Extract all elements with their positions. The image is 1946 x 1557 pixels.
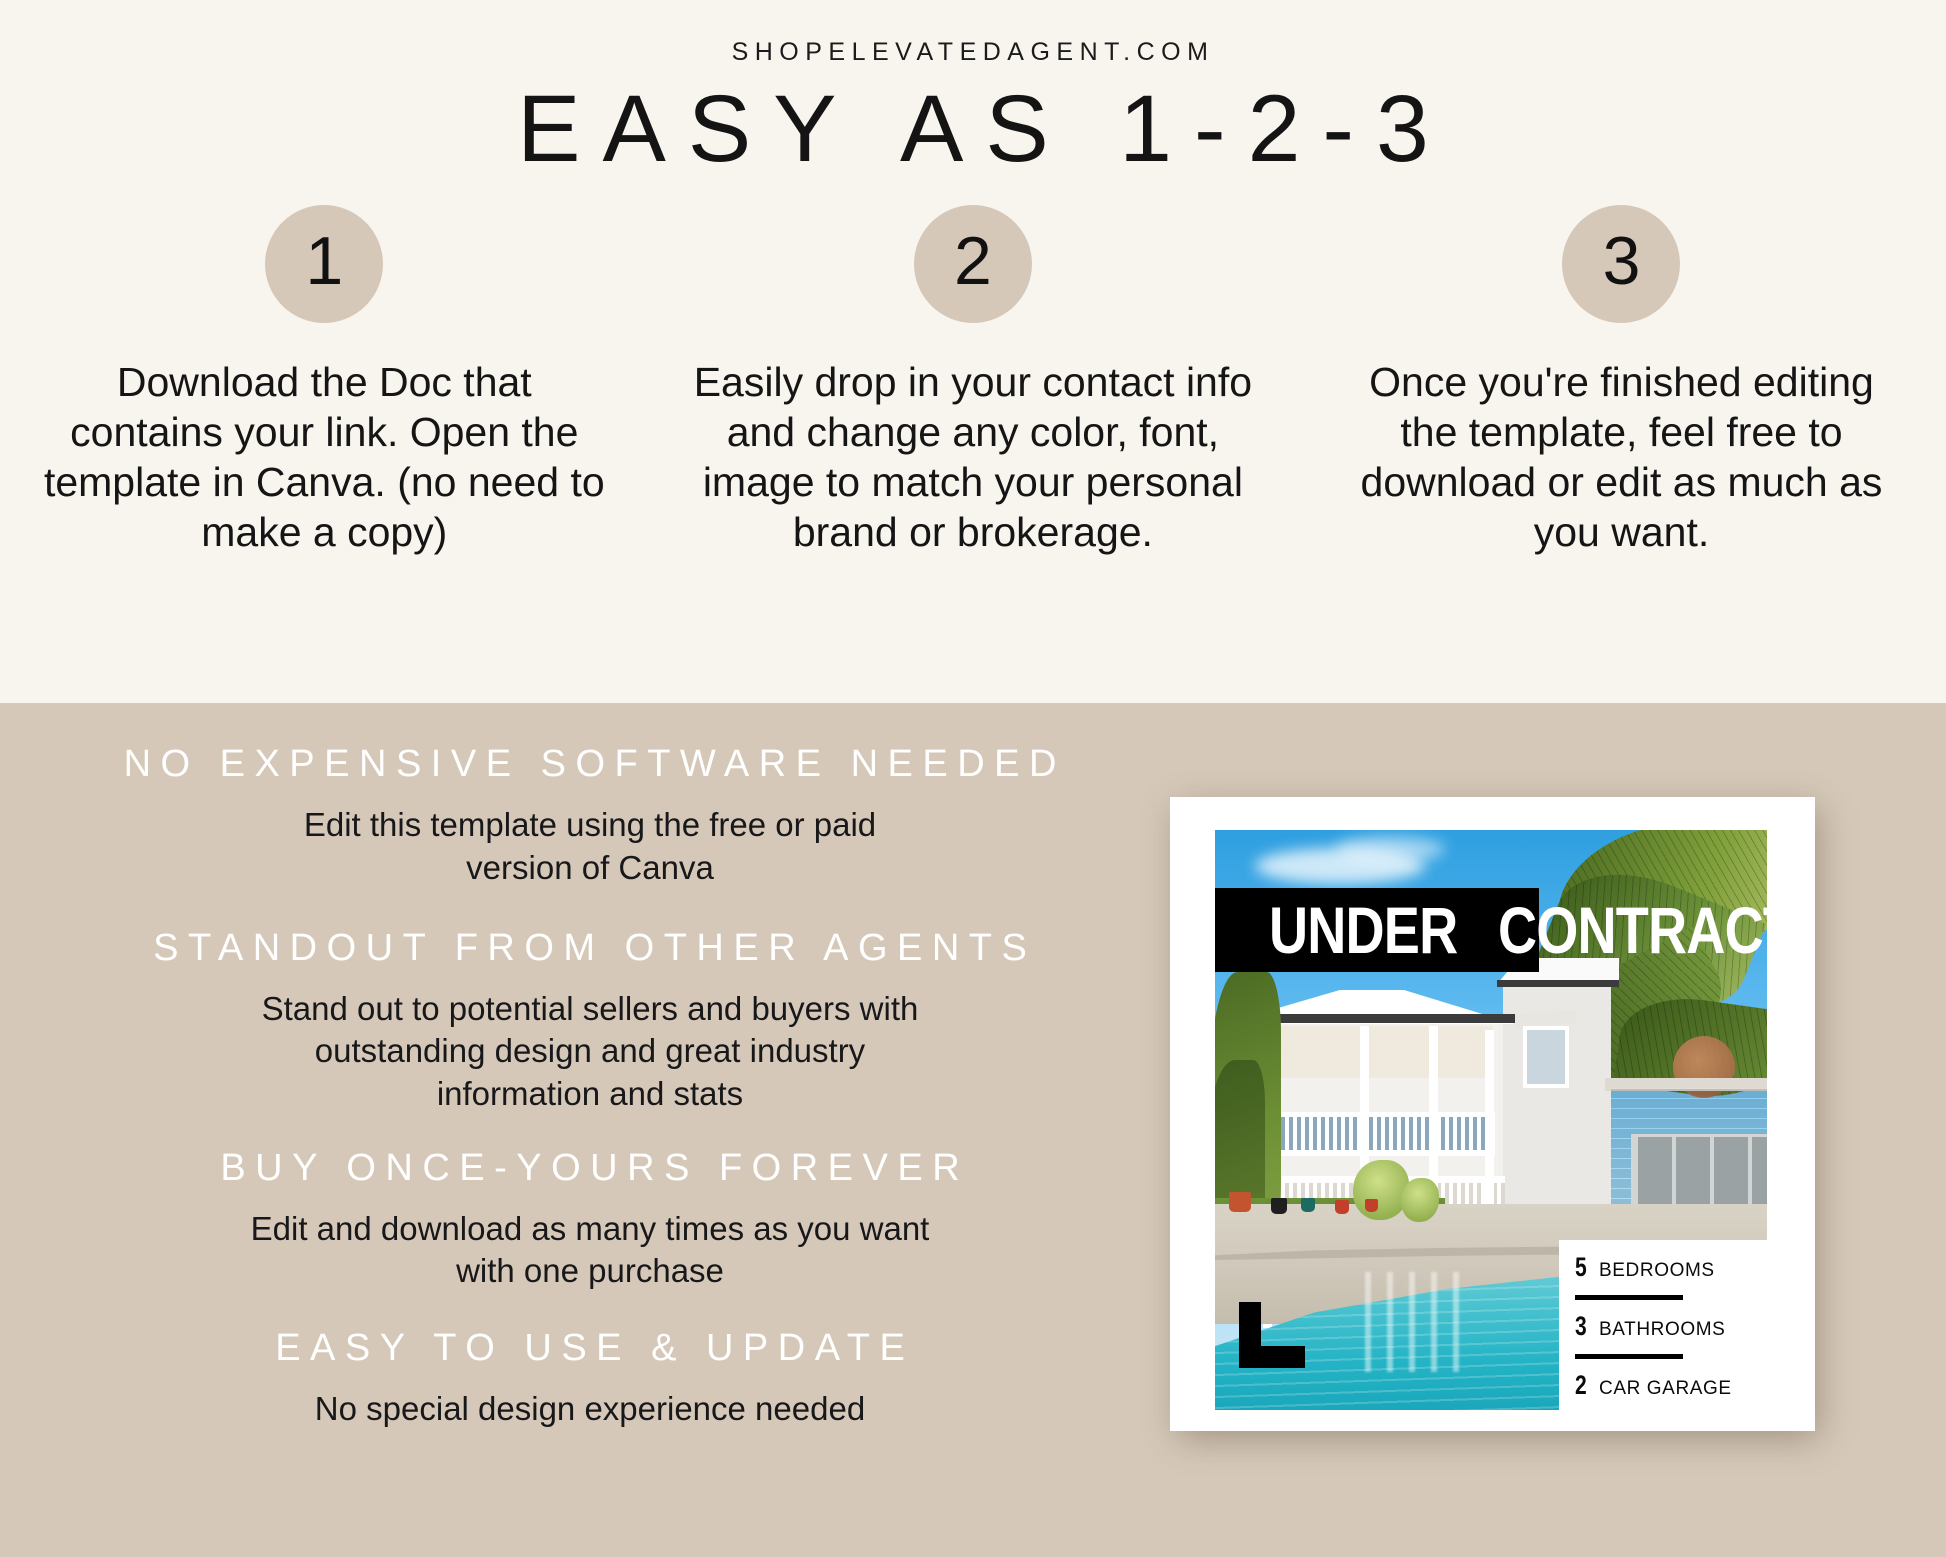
feature-4-title: EASY TO USE & UPDATE (0, 1323, 1180, 1374)
feature-no-expensive-software: NO EXPENSIVE SOFTWARE NEEDED Edit this t… (0, 739, 1180, 889)
plant-pot (1301, 1198, 1315, 1212)
stat-divider (1575, 1295, 1683, 1300)
stat-car-garage: 2 CAR GARAGE (1575, 1372, 1757, 1400)
step-3-text: Once you're finished editing the templat… (1341, 357, 1901, 557)
steps-row: 1 Download the Doc that contains your li… (0, 205, 1946, 557)
feature-3-body: Edit and download as many times as you w… (0, 1208, 1180, 1292)
stat-divider (1575, 1354, 1683, 1359)
stat-car-garage-label: CAR GARAGE (1599, 1378, 1732, 1400)
stat-bathrooms-number: 3 (1575, 1313, 1587, 1340)
banner-word-contract: CONTRACT (1498, 892, 1767, 968)
pool-reflection (1365, 1272, 1475, 1372)
step-1-badge: 1 (265, 205, 383, 323)
step-3: 3 Once you're finished editing the templ… (1297, 205, 1946, 557)
step-2-number: 2 (954, 227, 992, 295)
garden-shrub (1353, 1160, 1409, 1220)
stat-bedrooms-label: BEDROOMS (1599, 1260, 1715, 1282)
site-url: SHOPELEVATEDAGENT.COM (0, 38, 1946, 67)
step-1: 1 Download the Doc that contains your li… (0, 205, 649, 557)
property-photo: UNDER CONTRACT 5 BEDROOMS 3 BATHROOMS 2 … (1215, 830, 1767, 1410)
corner-bracket-icon (1239, 1302, 1305, 1368)
plant-pot (1271, 1198, 1287, 1214)
feature-3-title: BUY ONCE-YOURS FOREVER (0, 1143, 1180, 1194)
property-card: UNDER CONTRACT 5 BEDROOMS 3 BATHROOMS 2 … (1170, 797, 1815, 1431)
banner-word-under: UNDER (1269, 892, 1457, 968)
feature-4-body: No special design experience needed (0, 1388, 1180, 1430)
step-1-text: Download the Doc that contains your link… (39, 357, 609, 557)
stat-car-garage-number: 2 (1575, 1372, 1587, 1399)
plant-pot (1335, 1200, 1349, 1214)
stat-bathrooms-label: BATHROOMS (1599, 1319, 1725, 1341)
plant-pot (1229, 1192, 1251, 1212)
step-1-number: 1 (305, 227, 343, 295)
step-2: 2 Easily drop in your contact info and c… (649, 205, 1298, 557)
intro-section: SHOPELEVATEDAGENT.COM EASY AS 1-2-3 1 Do… (0, 0, 1946, 703)
house-window (1523, 1026, 1569, 1088)
step-3-badge: 3 (1562, 205, 1680, 323)
step-3-number: 3 (1603, 227, 1641, 295)
plant-pot (1365, 1199, 1378, 1212)
verandah-ceiling (1245, 1026, 1493, 1078)
feature-1-title: NO EXPENSIVE SOFTWARE NEEDED (0, 739, 1180, 790)
stat-bedrooms: 5 BEDROOMS (1575, 1254, 1757, 1282)
features-list: NO EXPENSIVE SOFTWARE NEEDED Edit this t… (0, 739, 1180, 1434)
feature-2-title: STANDOUT FROM OTHER AGENTS (0, 923, 1180, 974)
house-tower-roof-edge (1497, 980, 1619, 987)
feature-standout-from-other-agents: STANDOUT FROM OTHER AGENTS Stand out to … (0, 923, 1180, 1115)
balcony-railing (1245, 1112, 1495, 1156)
stat-bathrooms: 3 BATHROOMS (1575, 1313, 1757, 1341)
feature-1-body: Edit this template using the free or pai… (0, 804, 1180, 888)
step-2-badge: 2 (914, 205, 1032, 323)
stat-bedrooms-number: 5 (1575, 1254, 1587, 1281)
feature-easy-to-use-and-update: EASY TO USE & UPDATE No special design e… (0, 1323, 1180, 1431)
cloud-icon (1335, 836, 1445, 862)
step-2-text: Easily drop in your contact info and cha… (673, 357, 1273, 557)
property-stats-box: 5 BEDROOMS 3 BATHROOMS 2 CAR GARAGE (1559, 1240, 1767, 1410)
feature-buy-once-yours-forever: BUY ONCE-YOURS FOREVER Edit and download… (0, 1143, 1180, 1293)
feature-2-body: Stand out to potential sellers and buyer… (0, 988, 1180, 1115)
garden-shrub (1401, 1178, 1439, 1222)
page-title: EASY AS 1-2-3 (0, 82, 1946, 177)
